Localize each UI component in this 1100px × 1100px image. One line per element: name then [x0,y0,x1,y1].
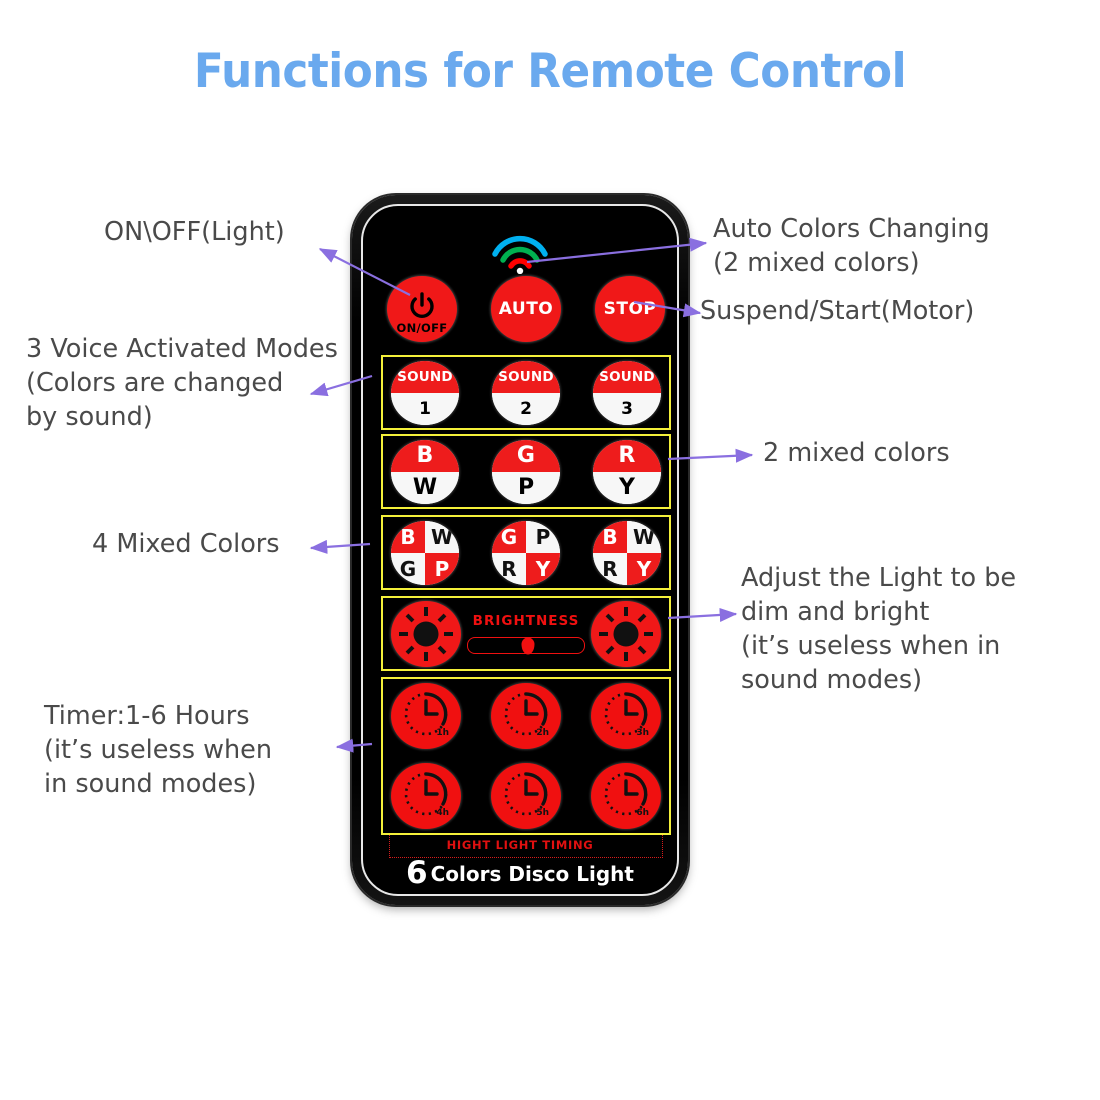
color-bw-button[interactable]: B W [391,440,459,504]
remote-faceplate: ON/OFF AUTO STOP SOUND 1 [367,210,673,890]
timer-3h-label: 3h [636,728,649,738]
sound-3-button[interactable]: SOUND 3 [593,361,661,425]
timer-1h-button[interactable]: 1h [391,683,461,749]
quad-3: G [391,553,425,585]
sun-icon [591,601,661,667]
power-icon [407,291,437,321]
color-ry-top: R [593,440,661,472]
auto-button[interactable]: AUTO [491,276,561,342]
quad-1: B [391,521,425,553]
quad-2: P [526,521,560,553]
timer-5h-label: 5h [536,808,549,818]
brightness-down-button[interactable] [391,601,461,667]
clock-icon [491,763,561,829]
onoff-button[interactable]: ON/OFF [387,276,457,342]
timer-4h-label: 4h [436,808,449,818]
brightness-slider-knob[interactable] [522,637,535,654]
brightness-group: BRIGHTNESS [381,596,671,671]
brand-number: 6 [406,855,428,891]
sun-icon [391,601,461,667]
timer-3h-button[interactable]: 3h [591,683,661,749]
power-row: ON/OFF AUTO STOP [381,272,671,346]
sound-3-top: SOUND [593,361,661,393]
sound-2-bottom: 2 [492,393,560,425]
quad-1: G [492,521,526,553]
stop-button-label: STOP [604,299,657,319]
annotation-brightness: Adjust the Light to be dim and bright (i… [741,562,1016,698]
brand-text: 6Colors Disco Light [367,855,673,891]
timer-6h-label: 6h [636,808,649,818]
sound-3-bottom: 3 [593,393,661,425]
brightness-control: BRIGHTNESS [461,613,591,654]
auto-button-label: AUTO [499,299,554,319]
timing-label: HIGHT LIGHT TIMING [367,838,673,852]
color-gpry-button[interactable]: G P R Y [492,521,560,585]
color-bwry-button[interactable]: B W R Y [593,521,661,585]
infographic-page: Functions for Remote Control [0,0,1100,1100]
quad-3: R [593,553,627,585]
clock-icon [491,683,561,749]
annotation-auto: Auto Colors Changing (2 mixed colors) [713,213,990,281]
annotation-onoff: ON\OFF(Light) [104,216,285,250]
clock-icon [591,763,661,829]
sound-1-bottom: 1 [391,393,459,425]
sound-mode-group: SOUND 1 SOUND 2 SOUND 3 [381,355,671,430]
timer-2h-label: 2h [536,728,549,738]
brightness-up-button[interactable] [591,601,661,667]
timer-5h-button[interactable]: 5h [491,763,561,829]
clock-icon [591,683,661,749]
two-mixed-colors-group: B W G P R Y [381,434,671,509]
stop-button[interactable]: STOP [595,276,665,342]
quad-2: W [425,521,459,553]
annotation-four-mixed: 4 Mixed Colors [92,528,280,562]
timer-6h-button[interactable]: 6h [591,763,661,829]
color-ry-bottom: Y [593,472,661,504]
annotation-sound: 3 Voice Activated Modes (Colors are chan… [26,333,338,435]
timer-2h-button[interactable]: 2h [491,683,561,749]
annotation-suspend: Suspend/Start(Motor) [700,295,974,329]
color-gp-top: G [492,440,560,472]
sound-2-button[interactable]: SOUND 2 [492,361,560,425]
timer-1h-label: 1h [436,728,449,738]
sound-1-button[interactable]: SOUND 1 [391,361,459,425]
color-ry-button[interactable]: R Y [593,440,661,504]
brightness-label: BRIGHTNESS [473,613,580,629]
remote-bezel: ON/OFF AUTO STOP SOUND 1 [361,204,679,896]
timer-row-bottom: 4h 5h [389,763,663,829]
quad-3: R [492,553,526,585]
remote-control-device: ON/OFF AUTO STOP SOUND 1 [352,195,688,905]
quad-4: Y [627,553,661,585]
page-title: Functions for Remote Control [39,44,1062,99]
color-gp-button[interactable]: G P [492,440,560,504]
timer-group: 1h 2h [381,677,671,835]
annotation-two-mixed: 2 mixed colors [763,437,950,471]
quad-4: Y [526,553,560,585]
clock-icon [391,763,461,829]
color-bw-top: B [391,440,459,472]
color-gp-bottom: P [492,472,560,504]
four-mixed-colors-group: B W G P G P R Y B W R Y [381,515,671,590]
wifi-signal-icon [489,228,551,274]
quad-2: W [627,521,661,553]
clock-icon [391,683,461,749]
annotation-timer: Timer:1-6 Hours (it’s useless when in so… [44,700,272,802]
timer-row-top: 1h 2h [389,683,663,749]
color-bwgp-button[interactable]: B W G P [391,521,459,585]
quad-1: B [593,521,627,553]
brightness-slider[interactable] [467,637,585,654]
onoff-button-label: ON/OFF [387,321,457,335]
brand-title: Colors Disco Light [431,862,634,886]
sound-1-top: SOUND [391,361,459,393]
timer-4h-button[interactable]: 4h [391,763,461,829]
sound-2-top: SOUND [492,361,560,393]
color-bw-bottom: W [391,472,459,504]
quad-4: P [425,553,459,585]
